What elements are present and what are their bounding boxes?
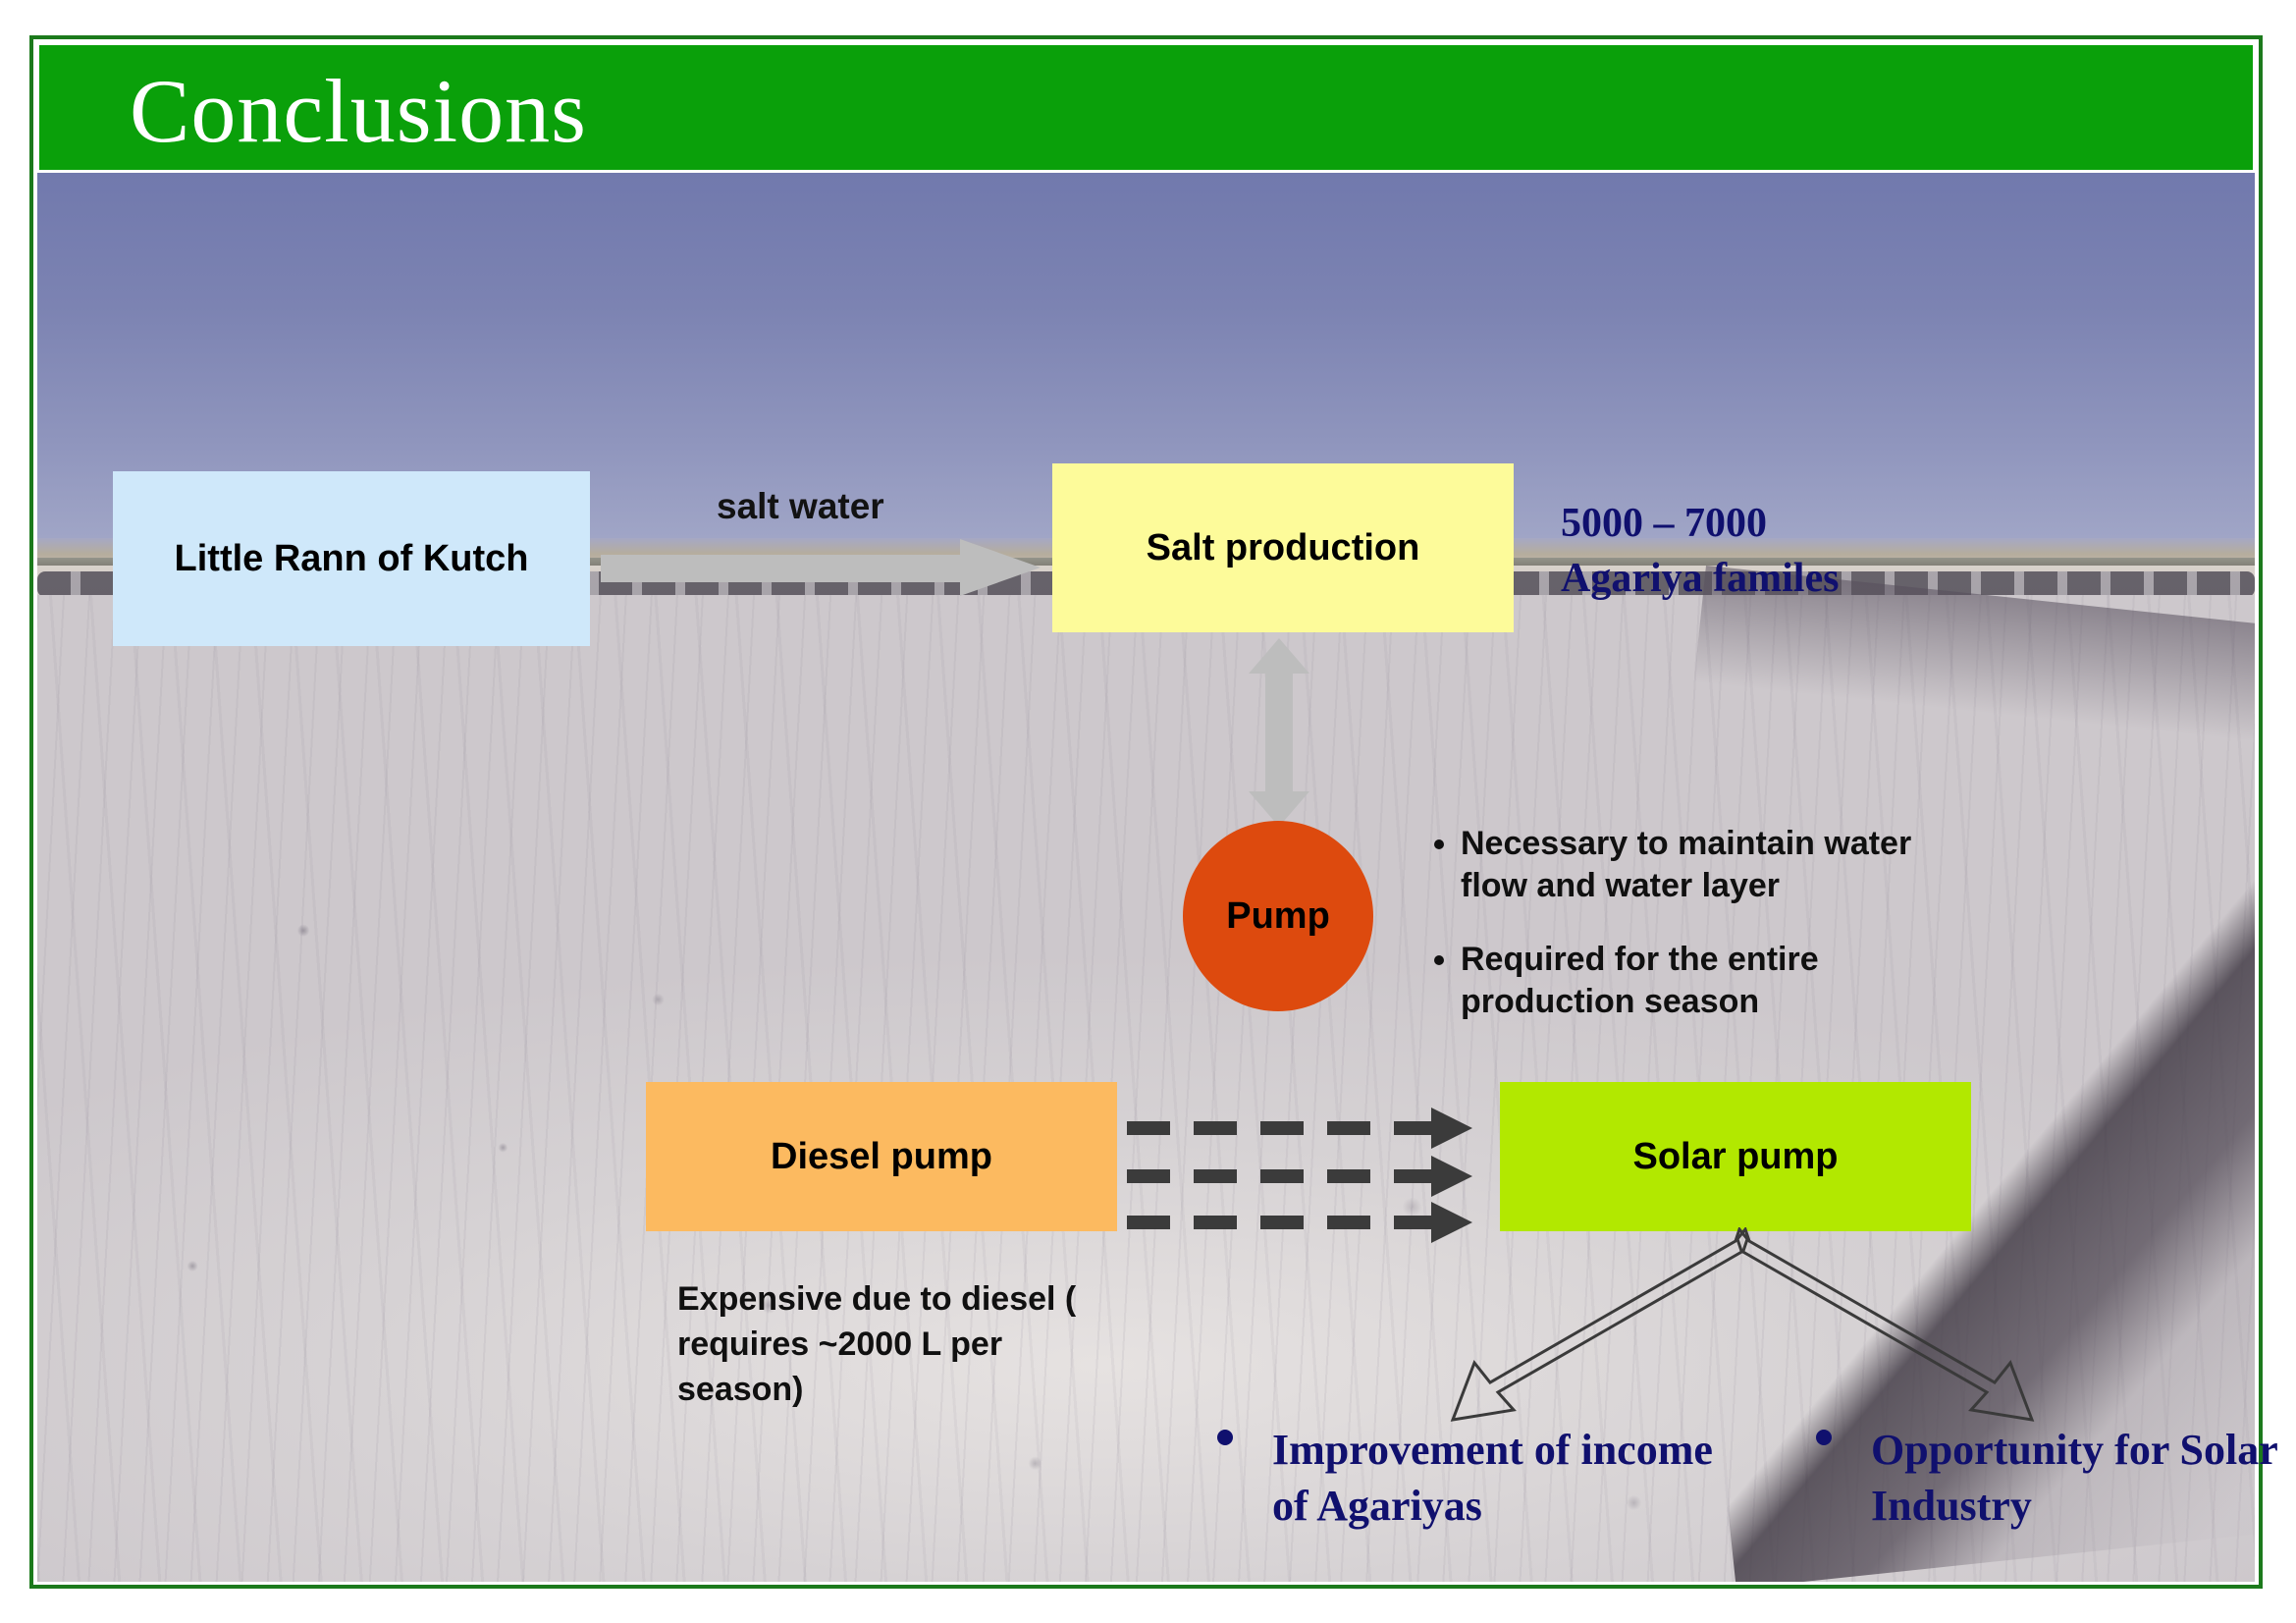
dash-line xyxy=(1127,1121,1437,1135)
annotation-agariya-families: 5000 – 7000 Agariya familes xyxy=(1561,496,1839,606)
node-diesel-pump[interactable]: Diesel pump xyxy=(646,1082,1117,1231)
outcome-solar-industry: Opportunity for Solar Industry xyxy=(1816,1422,2277,1534)
dash-line xyxy=(1127,1169,1437,1183)
node-salt-production[interactable]: Salt production xyxy=(1052,463,1514,632)
arrow-head-icon xyxy=(960,539,1041,596)
dashed-arrow-1 xyxy=(1127,1121,1512,1137)
list-item: Required for the entire production seaso… xyxy=(1461,939,1961,1023)
bullet-icon xyxy=(1816,1430,1832,1445)
dashed-arrow-2 xyxy=(1127,1169,1512,1185)
arrow-shaft xyxy=(601,555,966,582)
node-little-rann-of-kutch[interactable]: Little Rann of Kutch xyxy=(113,471,590,646)
agariya-families-line2: Agariya familes xyxy=(1561,556,1839,601)
agariya-families-line1: 5000 – 7000 xyxy=(1561,501,1767,546)
outcome-label: Opportunity for Solar Industry xyxy=(1871,1422,2277,1534)
pump-requirements-list: Necessary to maintain water flow and wat… xyxy=(1412,823,1961,1055)
dash-line xyxy=(1127,1216,1437,1229)
annotation-diesel-cost: Expensive due to diesel ( requires ~2000… xyxy=(677,1276,1109,1412)
bullet-icon xyxy=(1217,1430,1233,1445)
arrow-head-icon xyxy=(1431,1156,1472,1197)
node-solar-pump[interactable]: Solar pump xyxy=(1500,1082,1971,1231)
double-arrow-salt-production-pump xyxy=(1249,638,1309,827)
node-pump[interactable]: Pump xyxy=(1183,821,1373,1011)
arrow-shaft xyxy=(1265,668,1293,797)
outcome-label: Improvement of income of Agariyas xyxy=(1272,1422,1728,1534)
page-title: Conclusions xyxy=(130,53,587,169)
slide: Conclusions Little Rann of Kutch salt wa… xyxy=(0,0,2296,1623)
list-item: Necessary to maintain water flow and wat… xyxy=(1461,823,1961,907)
arrow-kutch-to-salt-production xyxy=(601,539,1041,596)
dashed-arrow-3 xyxy=(1127,1216,1512,1231)
arrow-head-icon xyxy=(1431,1202,1472,1243)
outcome-improvement-income: Improvement of income of Agariyas xyxy=(1217,1422,1728,1534)
arrow-head-icon xyxy=(1431,1108,1472,1149)
edge-label-salt-water: salt water xyxy=(717,486,884,527)
title-banner: Conclusions xyxy=(37,43,2255,172)
